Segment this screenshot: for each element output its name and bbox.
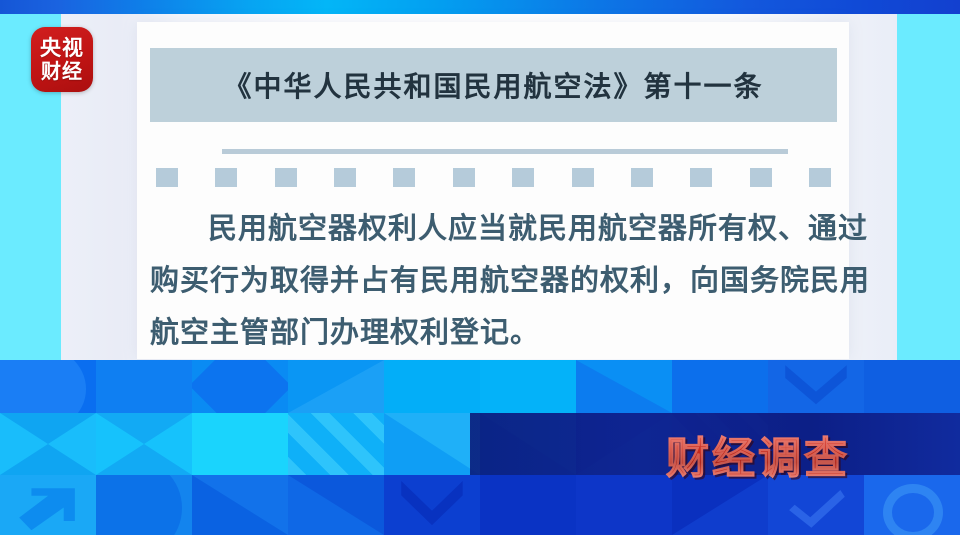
article-line-3: 航空主管部门办理权利登记。 <box>150 306 840 358</box>
mosaic-shape-bowtie <box>96 413 192 475</box>
mosaic-tile <box>864 360 960 413</box>
mosaic-tile <box>768 360 864 413</box>
law-article-card: 《中华人民共和国民用航空法》第十一条 民用航空器权利人应当就民用航空器所有权、通… <box>137 22 849 359</box>
mosaic-shape-tri-tr <box>288 475 384 535</box>
top-accent-strip <box>0 0 960 14</box>
mosaic-tile <box>192 413 288 475</box>
dash-square <box>690 168 712 187</box>
mosaic-tile <box>0 475 96 535</box>
mosaic-tile <box>672 360 768 413</box>
dash-square <box>453 168 475 187</box>
cctv-finance-logo: 央视 财经 <box>31 27 93 92</box>
mosaic-tile <box>192 360 288 413</box>
mosaic-tile <box>864 475 960 535</box>
mosaic-tile <box>96 475 192 535</box>
mosaic-tile <box>576 475 672 535</box>
dash-square <box>572 168 594 187</box>
mosaic-tile <box>288 360 384 413</box>
dash-square <box>809 168 831 187</box>
dash-square <box>631 168 653 187</box>
mosaic-tile <box>288 475 384 535</box>
mosaic-tile <box>0 413 96 475</box>
mosaic-shape-tri-bl <box>192 475 288 535</box>
mosaic-tile <box>480 475 576 535</box>
mosaic-shape-arrow <box>19 488 75 530</box>
mosaic-row-1 <box>0 360 960 413</box>
dash-square <box>334 168 356 187</box>
title-underline-rule <box>222 149 788 154</box>
article-line-1: 民用航空器权利人应当就民用航空器所有权、通过 <box>150 202 840 254</box>
logo-line-2: 财经 <box>41 60 83 83</box>
card-title-bar: 《中华人民共和国民用航空法》第十一条 <box>150 48 837 122</box>
mosaic-tile <box>96 360 192 413</box>
logo-line-1: 央视 <box>40 37 84 60</box>
right-cyan-band <box>897 14 960 360</box>
mosaic-shape-diamond <box>192 360 288 413</box>
mosaic-tile <box>576 360 672 413</box>
mosaic-tile <box>0 360 96 413</box>
dash-square <box>275 168 297 187</box>
mosaic-shape-check <box>789 486 845 528</box>
mosaic-shape-ring <box>883 484 943 535</box>
page-title: 《中华人民共和国民用航空法》第十一条 <box>223 65 763 105</box>
dash-square <box>393 168 415 187</box>
mosaic-shape-tri-tr <box>384 413 480 475</box>
mosaic-shape-chevron <box>785 365 846 407</box>
mosaic-tile <box>288 413 384 475</box>
mosaic-shape-circle <box>96 475 182 535</box>
mosaic-tile <box>192 475 288 535</box>
dash-square <box>156 168 178 187</box>
mosaic-shape-circle <box>0 360 86 413</box>
mosaic-tile <box>384 413 480 475</box>
mosaic-shape-stripes <box>288 413 384 475</box>
mosaic-tile <box>384 475 480 535</box>
article-line-2: 购买行为取得并占有民用航空器的权利，向国务院民用 <box>150 254 840 306</box>
mosaic-shape-chevron <box>401 481 462 529</box>
dash-square <box>512 168 534 187</box>
mosaic-shape-bowtie <box>0 413 96 475</box>
mosaic-shape-tri-br <box>288 360 384 413</box>
broadcast-frame: 《中华人民共和国民用航空法》第十一条 民用航空器权利人应当就民用航空器所有权、通… <box>0 0 960 535</box>
mosaic-shape-tri-bl <box>576 360 672 413</box>
dash-square <box>750 168 772 187</box>
program-watermark-text: 财经调查 <box>666 424 850 486</box>
article-body: 民用航空器权利人应当就民用航空器所有权、通过 购买行为取得并占有民用航空器的权利… <box>150 202 840 358</box>
dash-square <box>215 168 237 187</box>
mosaic-tile <box>480 360 576 413</box>
mosaic-tile <box>96 413 192 475</box>
dashed-divider <box>150 167 837 187</box>
mosaic-tile <box>384 360 480 413</box>
